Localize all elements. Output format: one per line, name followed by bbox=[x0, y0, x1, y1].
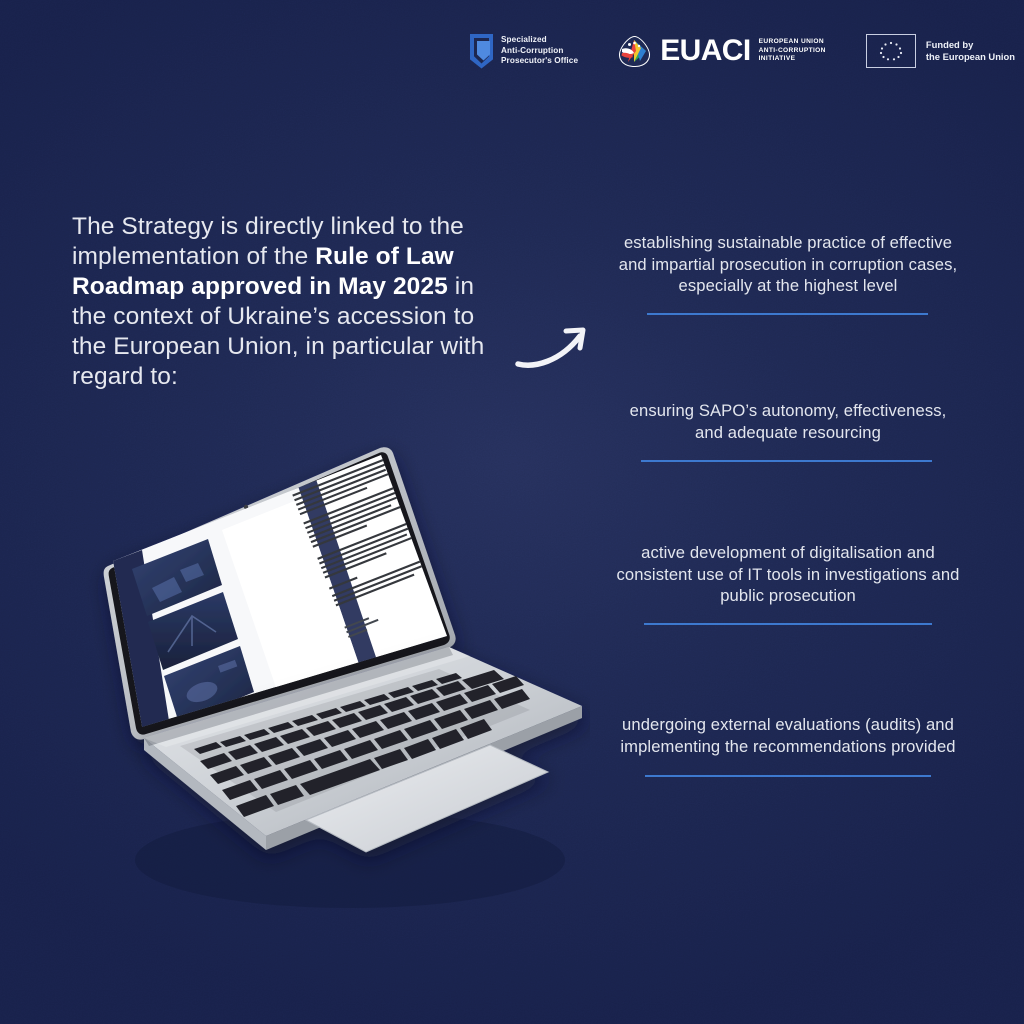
euaci-logo: EUACI EUROPEAN UNION ANTI-CORRUPTION INI… bbox=[618, 35, 826, 68]
point-divider bbox=[644, 623, 932, 625]
open-laptop-illustration bbox=[70, 420, 590, 920]
curved-arrow-up-right-icon bbox=[514, 316, 600, 374]
euaci-sub-3: INITIATIVE bbox=[759, 55, 826, 64]
logo-bar: Specialized Anti-Corruption Prosecutor's… bbox=[470, 27, 1015, 75]
lead-paragraph: The Strategy is directly linked to the i… bbox=[72, 212, 504, 392]
sapo-logo-text: Specialized Anti-Corruption Prosecutor's… bbox=[501, 35, 578, 66]
eu-funding-logo: Funded by the European Union bbox=[866, 34, 1015, 68]
sapo-line-1: Specialized bbox=[501, 35, 578, 45]
poster-canvas: Specialized Anti-Corruption Prosecutor's… bbox=[0, 0, 1024, 1024]
eu-funding-text: Funded by the European Union bbox=[926, 39, 1015, 64]
sapo-line-3: Prosecutor's Office bbox=[501, 56, 578, 66]
eu-line-1: Funded by bbox=[926, 39, 1015, 51]
eu-flag-icon bbox=[866, 34, 916, 68]
point-text: establishing sustainable practice of eff… bbox=[616, 232, 960, 297]
point-divider bbox=[647, 313, 928, 315]
euaci-sub-1: EUROPEAN UNION bbox=[759, 38, 826, 47]
point-prosecution-practice: establishing sustainable practice of eff… bbox=[616, 232, 960, 315]
point-digitalisation: active development of digitalisation and… bbox=[616, 542, 960, 625]
euaci-triangle-icon bbox=[618, 35, 651, 68]
point-divider bbox=[645, 775, 931, 777]
euaci-subtitle: EUROPEAN UNION ANTI-CORRUPTION INITIATIV… bbox=[759, 38, 826, 64]
point-external-evaluations: undergoing external evaluations (audits)… bbox=[616, 714, 960, 777]
point-divider bbox=[641, 460, 932, 462]
euaci-wordmark: EUACI bbox=[660, 36, 750, 66]
eu-line-2: the European Union bbox=[926, 51, 1015, 63]
shield-book-icon bbox=[470, 34, 493, 69]
point-text: undergoing external evaluations (audits)… bbox=[616, 714, 960, 757]
euaci-sub-2: ANTI-CORRUPTION bbox=[759, 47, 826, 56]
point-text: active development of digitalisation and… bbox=[616, 542, 960, 607]
sapo-line-2: Anti-Corruption bbox=[501, 46, 578, 56]
point-sapo-autonomy: ensuring SAPO’s autonomy, effectiveness,… bbox=[616, 400, 960, 462]
sapo-logo: Specialized Anti-Corruption Prosecutor's… bbox=[470, 34, 578, 69]
point-text: ensuring SAPO’s autonomy, effectiveness,… bbox=[616, 400, 960, 443]
